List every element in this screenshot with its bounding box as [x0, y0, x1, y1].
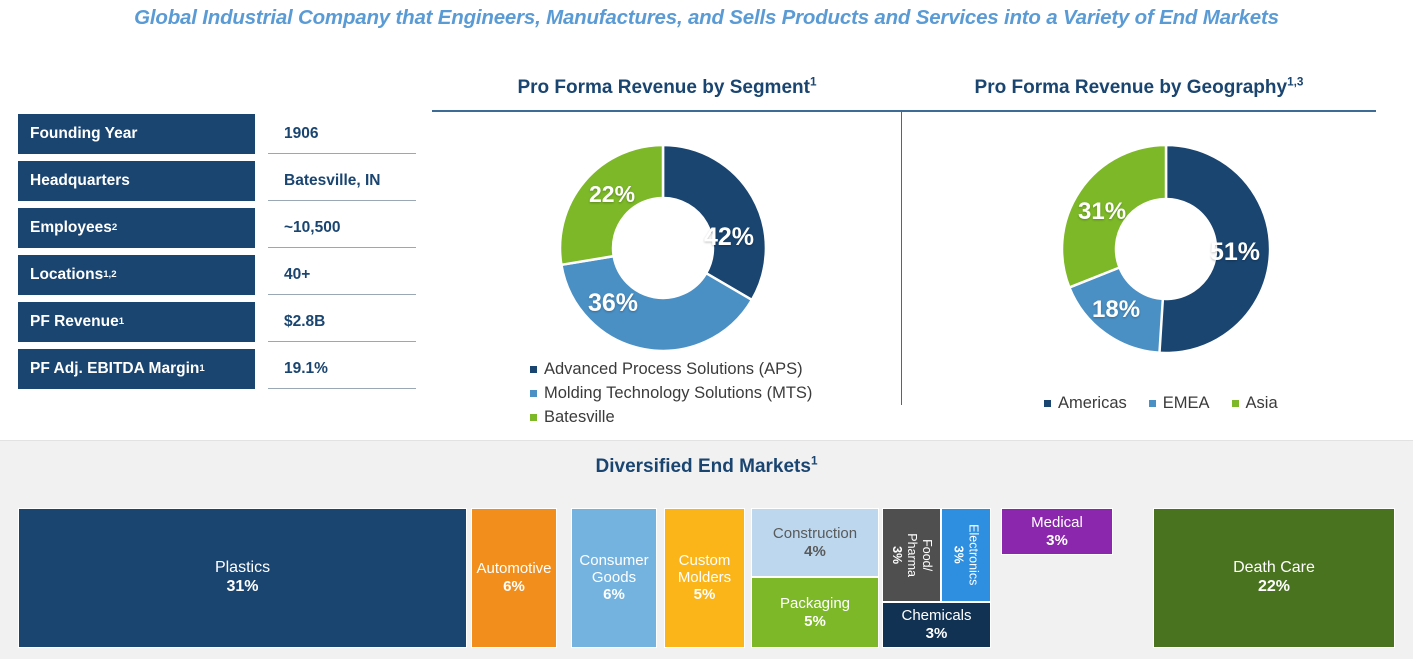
tile-name: Plastics — [215, 559, 270, 578]
geography-chart-title-footnote: 1,3 — [1287, 76, 1303, 89]
legend-item-aps: Advanced Process Solutions (APS) — [530, 357, 812, 381]
segment-label-mts: 36% — [588, 289, 638, 318]
segment-chart-title-footnote: 1 — [810, 76, 817, 89]
tile-name: Death Care — [1233, 559, 1315, 578]
segment-chart-legend: Advanced Process Solutions (APS) Molding… — [530, 357, 812, 429]
charts-top-divider — [432, 110, 1376, 112]
charts-vertical-divider — [901, 112, 902, 405]
legend-swatch-icon — [1044, 400, 1051, 407]
treemap-tile-electronics[interactable]: Electronics 3% — [941, 508, 991, 602]
legend-item-asia: Asia — [1232, 394, 1278, 413]
legend-label: Advanced Process Solutions (APS) — [544, 360, 803, 379]
fact-label-text: PF Revenue — [30, 313, 119, 331]
tile-pct: 5% — [694, 586, 716, 604]
treemap-tile-custom-molders[interactable]: CustomMolders 5% — [664, 508, 745, 648]
tile-name: ConsumerGoods — [579, 552, 648, 587]
table-row: PF Adj. EBITDA Margin1 19.1% — [18, 349, 418, 396]
treemap-tile-food-pharma[interactable]: Food/Pharma 3% — [882, 508, 941, 602]
tile-name: Chemicals — [901, 607, 971, 625]
segment-chart-title-text: Pro Forma Revenue by Segment — [517, 77, 809, 98]
fact-label: Employees2 — [18, 208, 255, 248]
treemap-tile-death-care[interactable]: Death Care 22% — [1153, 508, 1395, 648]
treemap-tile-construction[interactable]: Construction 4% — [751, 508, 879, 577]
tile-pct: 31% — [226, 578, 258, 597]
geography-donut: 51% 18% 31% — [1058, 141, 1274, 357]
fact-label: Locations1,2 — [18, 255, 255, 295]
table-row: Locations1,2 40+ — [18, 255, 418, 302]
segment-label-aps: 42% — [704, 223, 754, 252]
treemap-tile-plastics[interactable]: Plastics 31% — [18, 508, 467, 648]
legend-swatch-icon — [530, 414, 537, 421]
fact-value: 1906 — [268, 114, 416, 154]
table-row: Headquarters Batesville, IN — [18, 161, 418, 208]
treemap-tile-medical[interactable]: Medical 3% — [1001, 508, 1113, 555]
treemap-tile-consumer-goods[interactable]: ConsumerGoods 6% — [571, 508, 657, 648]
tile-name: Other — [1058, 584, 1096, 602]
end-markets-title-footnote: 1 — [811, 455, 818, 468]
legend-label: Molding Technology Solutions (MTS) — [544, 384, 812, 403]
page-headline: Global Industrial Company that Engineers… — [0, 6, 1413, 30]
tile-inner: Electronics 3% — [951, 524, 981, 585]
treemap-tile-automotive[interactable]: Automotive 6% — [471, 508, 557, 648]
fact-label: Founding Year — [18, 114, 255, 154]
tile-name: Automotive — [476, 560, 551, 578]
treemap-tile-chemicals[interactable]: Chemicals 3% — [882, 602, 991, 648]
segment-label-batesville: 22% — [589, 181, 635, 208]
legend-item-emea: EMEA — [1149, 394, 1210, 413]
legend-label: Batesville — [544, 408, 615, 427]
fact-label: Headquarters — [18, 161, 255, 201]
legend-swatch-icon — [530, 366, 537, 373]
table-row: Founding Year 1906 — [18, 114, 418, 161]
segment-donut: 42% 36% 22% — [556, 141, 770, 355]
tile-pct: 4% — [804, 543, 826, 561]
segment-chart-title: Pro Forma Revenue by Segment1 — [432, 77, 902, 99]
geography-donut-chart: 51% 18% 31% — [1058, 141, 1274, 357]
legend-item-mts: Molding Technology Solutions (MTS) — [530, 381, 812, 405]
tile-name: Medical — [1031, 514, 1083, 532]
tile-name: Electronics — [966, 524, 981, 585]
legend-item-batesville: Batesville — [530, 405, 812, 429]
treemap-tile-packaging[interactable]: Packaging 5% — [751, 577, 879, 648]
legend-label: EMEA — [1163, 394, 1210, 413]
fact-label-text: Founding Year — [30, 125, 137, 143]
fact-label-text: PF Adj. EBITDA Margin — [30, 360, 199, 378]
table-row: PF Revenue1 $2.8B — [18, 302, 418, 349]
tile-pct: 3% — [926, 625, 948, 643]
tile-pct: 3% — [951, 546, 966, 564]
tile-pct: 5% — [804, 613, 826, 631]
end-markets-title-text: Diversified End Markets — [596, 456, 811, 477]
geography-label-americas: 51% — [1210, 238, 1260, 267]
tile-name: Packaging — [780, 595, 850, 613]
end-markets-treemap: Plastics 31% Automotive 6% ConsumerGoods… — [18, 508, 1395, 648]
geography-chart-title-text: Pro Forma Revenue by Geography — [975, 77, 1288, 98]
tile-pct: 9% — [1066, 601, 1088, 619]
geography-chart-title: Pro Forma Revenue by Geography1,3 — [902, 77, 1376, 99]
legend-item-americas: Americas — [1044, 394, 1127, 413]
fact-value: ~10,500 — [268, 208, 416, 248]
end-markets-title: Diversified End Markets1 — [0, 456, 1413, 478]
fact-value: 40+ — [268, 255, 416, 295]
tile-pct: 3% — [889, 546, 904, 564]
legend-label: Americas — [1058, 394, 1127, 413]
geography-donut-hole — [1116, 199, 1216, 299]
tile-name: Construction — [773, 525, 857, 543]
geography-label-emea: 18% — [1092, 296, 1140, 324]
tile-name: CustomMolders — [678, 552, 731, 587]
legend-swatch-icon — [1232, 400, 1239, 407]
fact-label: PF Revenue1 — [18, 302, 255, 342]
tile-pct: 22% — [1258, 578, 1290, 597]
table-row: Employees2 ~10,500 — [18, 208, 418, 255]
fact-value: $2.8B — [268, 302, 416, 342]
legend-swatch-icon — [1149, 400, 1156, 407]
fact-label-text: Employees — [30, 219, 112, 237]
fact-value: 19.1% — [268, 349, 416, 389]
segment-donut-chart: 42% 36% 22% — [556, 141, 770, 355]
tile-pct: 6% — [503, 578, 525, 596]
end-markets-band: Diversified End Markets1 Plastics 31% Au… — [0, 440, 1413, 659]
fact-label-text: Locations — [30, 266, 103, 284]
tile-name: Food/Pharma — [904, 533, 934, 577]
tile-pct: 6% — [603, 586, 625, 604]
legend-label: Asia — [1246, 394, 1278, 413]
fact-label-text: Headquarters — [30, 172, 130, 190]
geography-chart-legend: Americas EMEA Asia — [1044, 394, 1278, 413]
fact-value: Batesville, IN — [268, 161, 416, 201]
legend-swatch-icon — [530, 390, 537, 397]
tile-inner: Food/Pharma 3% — [889, 533, 933, 577]
segment-donut-hole — [613, 198, 713, 298]
company-facts-table: Founding Year 1906 Headquarters Batesvil… — [18, 114, 418, 396]
geography-label-asia: 31% — [1078, 198, 1126, 226]
tile-pct: 3% — [1046, 532, 1068, 550]
fact-label: PF Adj. EBITDA Margin1 — [18, 349, 255, 389]
